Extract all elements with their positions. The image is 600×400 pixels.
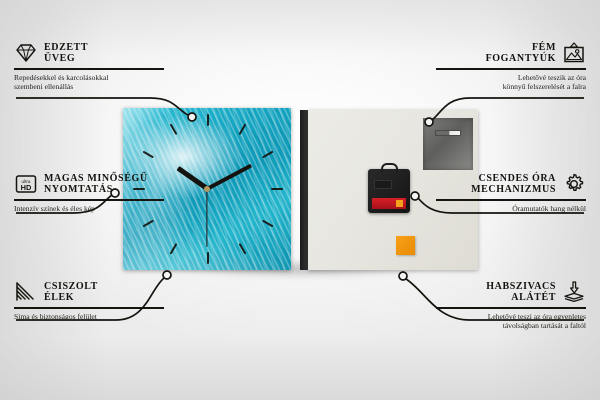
callout-title: CSENDES ÓRA MECHANIZMUS bbox=[471, 173, 556, 196]
callout-edzett-uveg: EDZETT ÜVEG Repedésekkel és karcolásokka… bbox=[14, 41, 196, 92]
callout-habszivacs-alatet: HABSZIVACS ALÁTÉT Lehetővé teszi az óra … bbox=[404, 280, 586, 331]
callout-title-row: CSISZOLT ÉLEK bbox=[14, 280, 196, 304]
callout-divider bbox=[14, 199, 164, 201]
callout-title-row: HABSZIVACS ALÁTÉT bbox=[404, 280, 586, 304]
hanging-frame-icon bbox=[562, 41, 586, 65]
callout-title-row: EDZETT ÜVEG bbox=[14, 41, 196, 65]
callout-csendes-ora-mechanizmus: CSENDES ÓRA MECHANIZMUS Óramutatók hang … bbox=[404, 172, 586, 213]
callout-title-line: ÜVEG bbox=[44, 53, 88, 65]
callout-magas-minosegu-nyomtatas: ultra HD MAGAS MINŐSÉGŰ NYOMTATÁS Intenz… bbox=[14, 172, 196, 213]
callout-title: CSISZOLT ÉLEK bbox=[44, 281, 98, 304]
callout-divider bbox=[14, 68, 164, 70]
callout-title-line: ÉLEK bbox=[44, 292, 98, 304]
leader-dot-csiszolt-elek bbox=[163, 271, 171, 279]
callout-fem-fogantyuk: FÉM FOGANTYÚK Lehetővé teszik az óra kön… bbox=[404, 41, 586, 92]
callout-subtitle-line: szembeni ellenállás bbox=[14, 82, 196, 92]
callout-title: HABSZIVACS ALÁTÉT bbox=[486, 281, 556, 304]
leader-dot-fem-fogantyuk bbox=[425, 118, 433, 126]
callout-divider bbox=[436, 199, 586, 201]
callout-subtitle-line: Óramutatók hang nélkül bbox=[404, 204, 586, 214]
callout-title-line: MAGAS MINŐSÉGŰ bbox=[44, 173, 148, 185]
callout-divider bbox=[14, 307, 164, 309]
leader-dot-habszivacs bbox=[399, 272, 407, 280]
foam-pad-icon bbox=[562, 280, 586, 304]
callout-title: FÉM FOGANTYÚK bbox=[486, 42, 556, 65]
callout-title-line: ALÁTÉT bbox=[486, 292, 556, 304]
callout-subtitle-line: távolságban tartását a faltól bbox=[404, 321, 586, 331]
callout-divider bbox=[436, 68, 586, 70]
callout-subtitle-line: Intenzív színek és éles kép bbox=[14, 204, 196, 214]
gear-icon bbox=[562, 172, 586, 196]
leader-line-edzett-uveg bbox=[16, 98, 190, 116]
callout-csiszolt-elek: CSISZOLT ÉLEK Sima és biztonságos felüle… bbox=[14, 280, 196, 321]
callout-subtitle-line: Sima és biztonságos felület bbox=[14, 312, 196, 322]
callout-subtitle-line: Lehetővé teszik az óra bbox=[404, 73, 586, 83]
callout-title-row: CSENDES ÓRA MECHANIZMUS bbox=[404, 172, 586, 196]
callout-title-line: HABSZIVACS bbox=[486, 281, 556, 293]
callout-subtitle-line: könnyű felszerelését a falra bbox=[404, 82, 586, 92]
polished-edges-icon bbox=[14, 280, 38, 304]
svg-text:HD: HD bbox=[21, 183, 32, 192]
callout-title-line: CSENDES ÓRA bbox=[471, 173, 556, 185]
callout-title: EDZETT ÜVEG bbox=[44, 42, 88, 65]
ultra-hd-icon: ultra HD bbox=[14, 172, 38, 196]
callout-title-line: EDZETT bbox=[44, 42, 88, 54]
callout-title-row: ultra HD MAGAS MINŐSÉGŰ NYOMTATÁS bbox=[14, 172, 196, 196]
callout-title-line: FÉM bbox=[486, 42, 556, 54]
callout-title-line: CSISZOLT bbox=[44, 281, 98, 293]
callout-title-line: NYOMTATÁS bbox=[44, 184, 148, 196]
callout-title: MAGAS MINŐSÉGŰ NYOMTATÁS bbox=[44, 173, 148, 196]
leader-dot-edzett-uveg bbox=[188, 113, 196, 121]
callout-subtitle-line: Repedésekkel és karcolásokkal bbox=[14, 73, 196, 83]
leader-line-fem-fogantyuk bbox=[432, 98, 584, 120]
callout-subtitle-line: Lehetővé teszi az óra egyenletes bbox=[404, 312, 586, 322]
infographic-stage: EDZETT ÜVEG Repedésekkel és karcolásokka… bbox=[0, 0, 600, 400]
diamond-icon bbox=[14, 41, 38, 65]
callout-title-line: MECHANIZMUS bbox=[471, 184, 556, 196]
callout-title-line: FOGANTYÚK bbox=[486, 53, 556, 65]
callout-divider bbox=[436, 307, 586, 309]
callout-title-row: FÉM FOGANTYÚK bbox=[404, 41, 586, 65]
